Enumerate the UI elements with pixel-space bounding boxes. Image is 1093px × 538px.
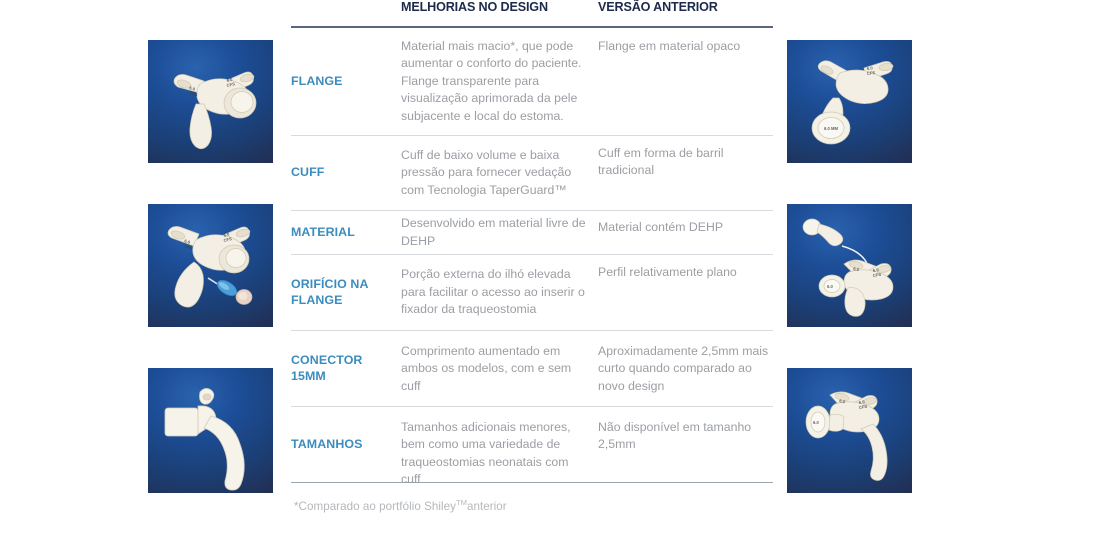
row-label-tamanhos: TAMANHOS <box>291 437 401 453</box>
row-label-conector-15mm: CONECTOR 15MM <box>291 353 401 385</box>
table-row: MATERIAL Desenvolvido em material livre … <box>291 211 773 255</box>
row-improvement-conector-15mm: Comprimento aumentado em ambos os modelo… <box>401 331 598 395</box>
tracheostomy-tube-illustration: 6.0 6.0 CFS 6.0 <box>787 368 912 493</box>
table-row: ORIFÍCIO NA FLANGE Porção externa do ilh… <box>291 255 773 331</box>
footnote: *Comparado ao portfólio ShileyTManterior <box>294 498 507 513</box>
svg-text:6.0: 6.0 <box>827 284 833 289</box>
svg-text:CFS: CFS <box>867 70 876 76</box>
table-row: CUFF Cuff de baixo volume e baixa pressã… <box>291 136 773 211</box>
row-previous-orificio-na-flange: Perfil relativamente plano <box>598 255 773 281</box>
photo-new-tracheostomy-tube-side-profile <box>148 368 273 493</box>
tracheostomy-tube-illustration: 6.0 CFS 6.0 CFS <box>148 40 273 163</box>
row-previous-cuff: Cuff em forma de barril tradicional <box>598 136 773 180</box>
tracheostomy-tube-illustration <box>148 368 273 493</box>
footnote-trademark: TM <box>456 498 467 507</box>
row-label-orificio-na-flange: ORIFÍCIO NA FLANGE <box>291 277 401 309</box>
comparison-table-page: 6.0 CFS 6.0 CFS <box>0 0 1093 538</box>
row-improvement-cuff: Cuff de baixo volume e baixa pressão par… <box>401 147 598 199</box>
design-comparison-table: MELHORIAS NO DESIGN VERSÃO ANTERIOR FLAN… <box>291 0 773 483</box>
photo-new-cuffed-tracheostomy-tube-with-pilot-balloon: 6.0 CFS 6.0 CFS <box>148 204 273 327</box>
table-row: FLANGE Material mais macio*, que pode au… <box>291 28 773 136</box>
svg-text:CFS: CFS <box>189 90 199 97</box>
row-improvement-tamanhos: Tamanhos adicionais menores, bem como um… <box>401 407 598 489</box>
row-improvement-flange: Material mais macio*, que pode aumentar … <box>401 38 598 125</box>
row-label-cuff: CUFF <box>291 165 401 181</box>
row-previous-tamanhos: Não disponível em tamanho 2,5mm <box>598 407 773 454</box>
table-header-row: MELHORIAS NO DESIGN VERSÃO ANTERIOR <box>291 0 773 24</box>
svg-text:6.0: 6.0 <box>813 420 819 425</box>
row-improvement-orificio-na-flange: Porção externa do ilhó elevada para faci… <box>401 266 598 318</box>
photo-new-uncuffed-tracheostomy-tube-front: 6.0 CFS 6.0 CFS <box>148 40 273 163</box>
photo-previous-tracheostomy-tube-side-profile: 6.0 6.0 CFS 6.0 <box>787 368 912 493</box>
table-row: TAMANHOS Tamanhos adicionais menores, be… <box>291 407 773 483</box>
column-header-previous: VERSÃO ANTERIOR <box>598 0 773 14</box>
table-row: CONECTOR 15MM Comprimento aumentado em a… <box>291 331 773 407</box>
svg-text:6.0 MM: 6.0 MM <box>824 126 838 131</box>
photo-previous-cuffed-tracheostomy-tube-with-pilot-balloon: 6.0 6.0 CFS 6.0 <box>787 204 912 327</box>
row-label-material: MATERIAL <box>291 225 401 241</box>
footnote-prefix: *Comparado ao portfólio Shiley <box>294 500 456 513</box>
footnote-suffix: anterior <box>467 500 507 513</box>
row-improvement-material: Desenvolvido em material livre de DEHP <box>401 215 598 250</box>
tracheostomy-tube-illustration: 6.0 6.0 CFS 6.0 <box>787 204 912 327</box>
row-previous-conector-15mm: Aproximadamente 2,5mm mais curto quando … <box>598 331 773 395</box>
tracheostomy-tube-illustration: 6.0 CFS 6.0 MM <box>787 40 912 163</box>
tracheostomy-tube-illustration: 6.0 CFS 6.0 CFS <box>148 204 273 327</box>
row-previous-material: Material contém DEHP <box>598 211 773 236</box>
row-previous-flange: Flange em material opaco <box>598 28 773 55</box>
photo-previous-uncuffed-tracheostomy-tube-front: 6.0 CFS 6.0 MM <box>787 40 912 163</box>
row-label-flange: FLANGE <box>291 74 401 90</box>
column-header-improvements: MELHORIAS NO DESIGN <box>401 0 598 14</box>
